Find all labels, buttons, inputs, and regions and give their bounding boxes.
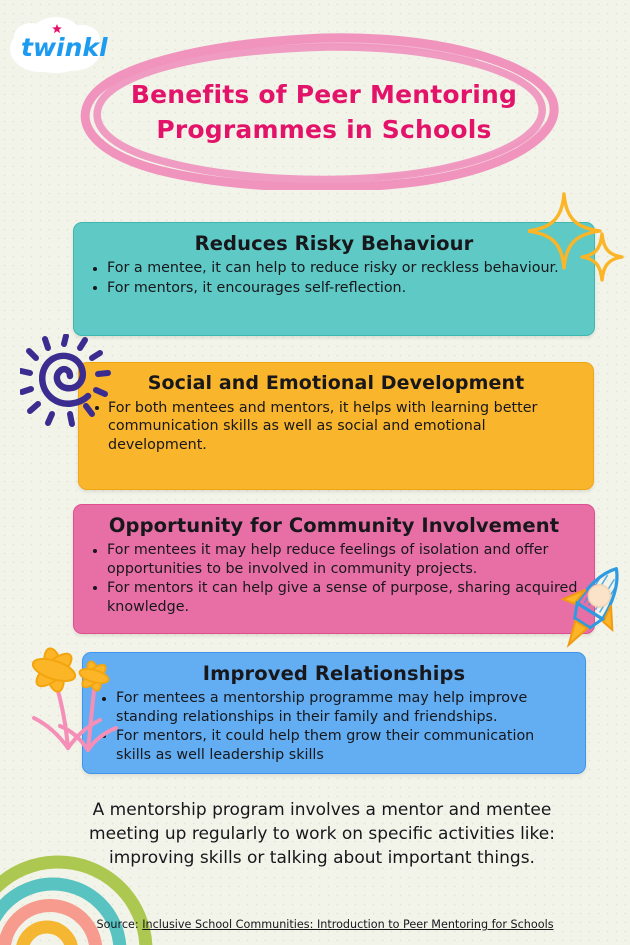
bullet-dot-icon (93, 549, 97, 553)
source-line: Source: Inclusive School Communities: In… (60, 918, 590, 931)
card-title: Improved Relationships (99, 662, 569, 686)
list-item: For mentees it may help reduce feelings … (90, 541, 578, 578)
card-bullet-list: For mentees it may help reduce feelings … (90, 541, 578, 616)
bullet-dot-icon (93, 286, 97, 290)
card-title: Social and Emotional Development (95, 372, 577, 396)
list-item: For mentees a mentorship programme may h… (99, 689, 569, 726)
benefit-card-improved-relationships: Improved Relationships For mentees a men… (82, 652, 586, 774)
page-title: Benefits of Peer Mentoring Programmes in… (128, 78, 520, 147)
list-item-text: For mentors, it could help them grow the… (116, 728, 534, 762)
card-bullet-list: For both mentees and mentors, it helps w… (95, 399, 577, 454)
list-item-text: For both mentees and mentors, it helps w… (108, 400, 537, 453)
list-item-text: For mentors it can help give a sense of … (107, 580, 577, 614)
list-item-text: For a mentee, it can help to reduce risk… (107, 260, 559, 276)
benefit-card-social-and-emotional-development: Social and Emotional Development For bot… (78, 362, 594, 490)
twinkl-logo[interactable]: twinkl (6, 8, 124, 82)
source-link[interactable]: Inclusive School Communities: Introducti… (142, 918, 553, 931)
list-item: For mentors it can help give a sense of … (90, 579, 578, 616)
page-title-block: Benefits of Peer Mentoring Programmes in… (70, 30, 570, 190)
list-item: For mentors, it could help them grow the… (99, 727, 569, 764)
bullet-dot-icon (93, 586, 97, 590)
page-title-line-2: Programmes in Schools (128, 113, 520, 148)
list-item: For a mentee, it can help to reduce risk… (90, 259, 578, 277)
list-item-text: For mentors, it encourages self-reflecti… (107, 280, 406, 296)
benefit-card-opportunity-for-community-involvement: Opportunity for Community Involvement Fo… (73, 504, 595, 634)
bullet-dot-icon (102, 734, 106, 738)
page-title-line-1: Benefits of Peer Mentoring (128, 78, 520, 113)
list-item: For mentors, it encourages self-reflecti… (90, 279, 578, 297)
card-bullet-list: For mentees a mentorship programme may h… (99, 689, 569, 764)
source-label: Source: (96, 918, 138, 931)
logo-wordmark: twinkl (21, 33, 108, 62)
infographic-poster: twinkl Benefits of Peer Mentoring Progra… (0, 0, 630, 945)
card-bullet-list: For a mentee, it can help to reduce risk… (90, 259, 578, 297)
benefit-card-reduces-risky-behaviour: Reduces Risky Behaviour For a mentee, it… (73, 222, 595, 336)
footer-summary-text: A mentorship program involves a mentor a… (72, 798, 572, 870)
list-item: For both mentees and mentors, it helps w… (95, 399, 577, 454)
bullet-dot-icon (102, 697, 106, 701)
card-title: Reduces Risky Behaviour (90, 232, 578, 256)
card-title: Opportunity for Community Involvement (90, 514, 578, 538)
bullet-dot-icon (93, 267, 97, 271)
bullet-dot-icon (95, 406, 99, 410)
list-item-text: For mentees a mentorship programme may h… (116, 690, 527, 724)
list-item-text: For mentees it may help reduce feelings … (107, 542, 548, 576)
